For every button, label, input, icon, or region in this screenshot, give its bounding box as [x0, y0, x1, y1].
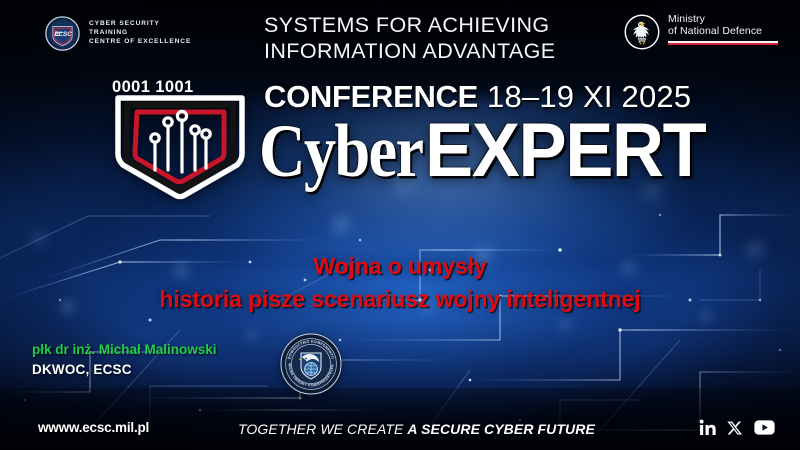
polish-eagle-icon: XXX: [624, 14, 660, 50]
linkedin-icon[interactable]: [699, 419, 716, 436]
wordmark-expert: EXPERT: [425, 107, 705, 194]
social-links: [699, 419, 775, 436]
wordmark-cyber: Cyber: [259, 109, 422, 195]
svg-text:XXX: XXX: [639, 38, 645, 42]
footer-tagline: TOGETHER WE CREATE A SECURE CYBER FUTURE: [238, 421, 595, 437]
conference-slide: ECSC CYBER SECURITY TRAINING CENTRE OF E…: [0, 0, 800, 450]
kicker-line-2: INFORMATION ADVANTAGE: [264, 38, 556, 64]
subtitle-line-1: Wojna o umysły: [0, 250, 800, 283]
ecsc-shield-icon: ECSC: [45, 16, 80, 51]
subtitle-line-2: historia pisze scenariusz wojny intelige…: [0, 283, 800, 316]
ecsc-logo-text: CYBER SECURITY TRAINING CENTRE OF EXCELL…: [89, 21, 191, 46]
speaker-name: płk dr inż. Michał Malinowski: [32, 341, 217, 358]
ministry-line-1: Ministry: [668, 13, 778, 25]
website-url[interactable]: wwww.ecsc.mil.pl: [38, 420, 149, 435]
dkwoc-emblem-icon: DOWÓDZTWO KOMPONENTU WOJSK OBRONY CYBERP…: [280, 333, 342, 395]
binary-label: 0001 1001: [112, 78, 194, 97]
tagline-bold: A SECURE CYBER FUTURE: [407, 421, 594, 437]
ministry-of-national-defence-logo: XXX Ministry of National Defence: [624, 13, 778, 50]
presentation-subtitle: Wojna o umysły historia pisze scenariusz…: [0, 250, 800, 315]
tagline-light: TOGETHER WE CREATE: [238, 421, 407, 437]
youtube-icon[interactable]: [754, 420, 775, 435]
ecsc-logo: ECSC CYBER SECURITY TRAINING CENTRE OF E…: [45, 16, 191, 51]
event-kicker: SYSTEMS FOR ACHIEVING INFORMATION ADVANT…: [264, 12, 556, 64]
background-vignette: [0, 0, 800, 450]
kicker-line-1: SYSTEMS FOR ACHIEVING: [264, 12, 556, 38]
speaker-organisation: DKWOC, ECSC: [32, 361, 217, 378]
footer-band: [0, 388, 800, 450]
ministry-text-block: Ministry of National Defence: [668, 13, 778, 45]
speaker-block: płk dr inż. Michał Malinowski DKWOC, ECS…: [32, 341, 217, 379]
polish-flag-bar: [668, 41, 778, 45]
ministry-line-2: of National Defence: [668, 25, 778, 37]
cyberexpert-wordmark: Cyber EXPERT: [259, 107, 720, 195]
ecsc-line-2: TRAINING: [89, 30, 191, 37]
x-twitter-icon[interactable]: [727, 420, 743, 436]
svg-text:ECSC: ECSC: [54, 31, 72, 38]
ecsc-line-3: CENTRE OF EXCELLENCE: [89, 39, 191, 46]
ecsc-line-1: CYBER SECURITY: [89, 21, 191, 28]
